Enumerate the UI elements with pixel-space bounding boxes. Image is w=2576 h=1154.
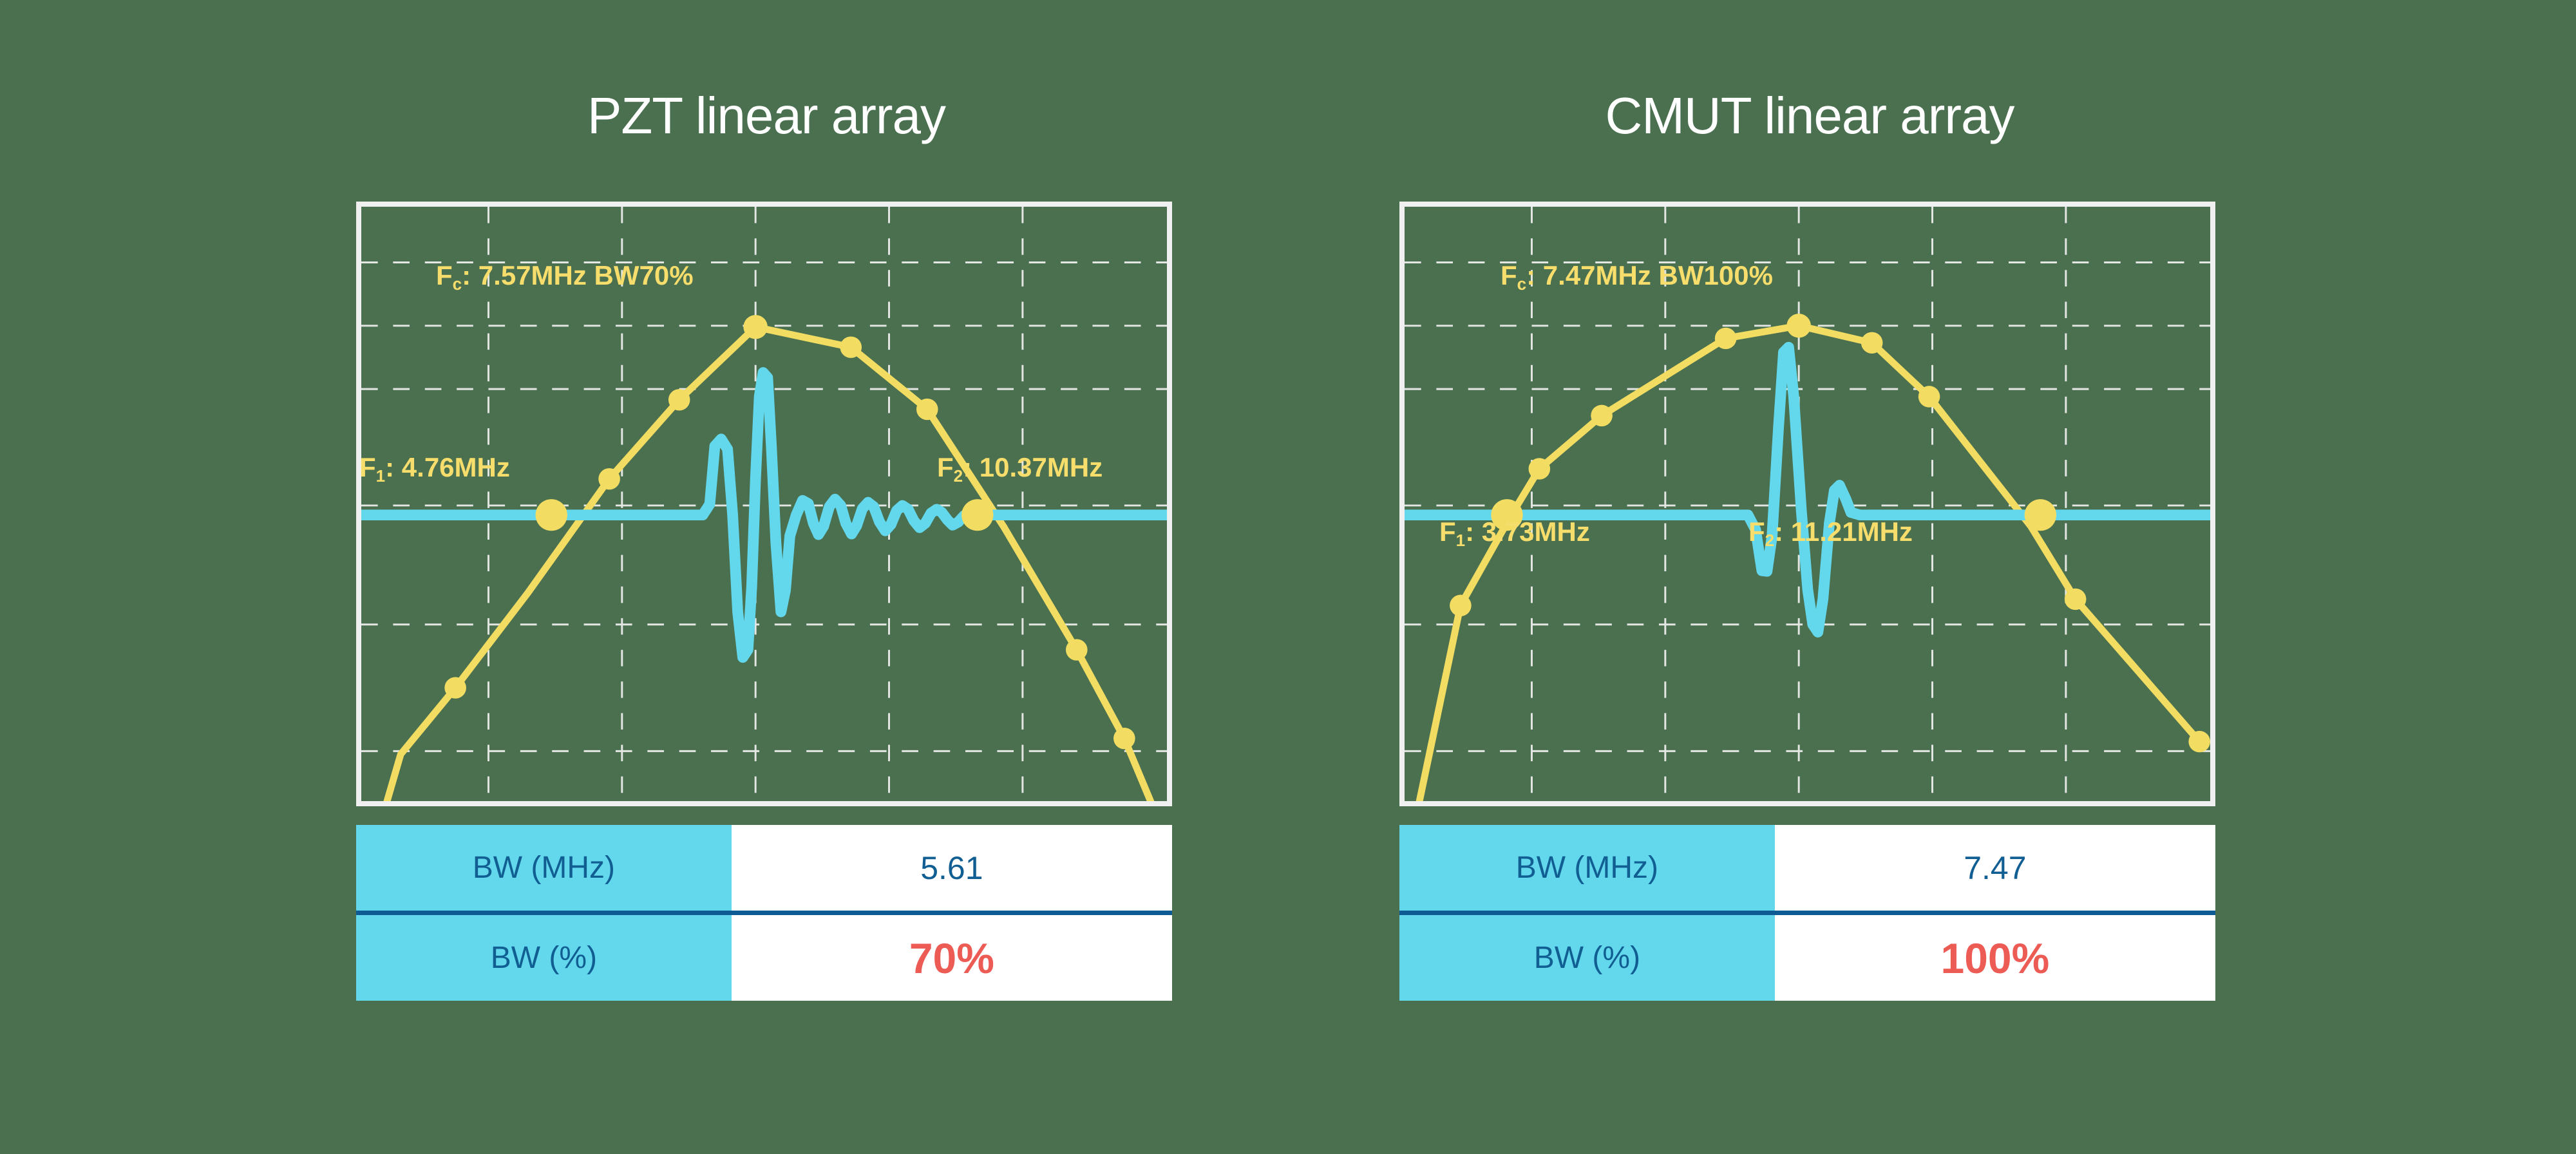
annotation-symbol: F [937, 452, 954, 482]
table-cell-label: BW (MHz) [356, 825, 732, 913]
annotation-subscript: 1 [376, 466, 385, 486]
annotation-center-frequency-cmut: Fc: 7.47MHz BW100% [1501, 262, 1773, 289]
annotation-subscript: c [453, 274, 462, 294]
annotation-lower-cutoff-cmut: F1: 3.73MHz [1439, 518, 1590, 545]
chart-pzt-svg [361, 207, 1167, 801]
annotation-subscript: 2 [954, 466, 963, 486]
annotation-text: : 11.21MHz [1774, 516, 1913, 547]
annotation-text: : 10.37MHz [963, 452, 1103, 482]
annotation-text: : 4.76MHz [385, 452, 510, 482]
annotation-upper-cutoff-pzt: F2: 10.37MHz [937, 454, 1103, 481]
table-cell-value: 7.47 [1775, 825, 2215, 913]
table-cell-label: BW (MHz) [1399, 825, 1775, 913]
impulse-response-waveform-pzt [361, 373, 1167, 657]
annotation-symbol: F [1439, 516, 1456, 547]
table-cell-value: 5.61 [732, 825, 1172, 913]
chart-pzt [356, 202, 1172, 806]
grid-lines-cmut [1405, 207, 2210, 801]
annotation-symbol: F [436, 260, 453, 290]
panel-cmut: CMUT linear array [1294, 0, 2325, 1154]
page-title-pzt: PZT linear array [251, 90, 1282, 142]
annotation-subscript: c [1517, 274, 1526, 294]
annotation-text: : 7.47MHz BW100% [1526, 260, 1773, 290]
annotation-symbol: F [359, 452, 376, 482]
page-title-cmut: CMUT linear array [1294, 90, 2325, 142]
table-row: BW (%) 100% [1399, 913, 2215, 1001]
annotation-subscript: 1 [1456, 531, 1465, 550]
panel-pzt: PZT linear array [251, 0, 1282, 1154]
annotation-text: : 3.73MHz [1465, 516, 1590, 547]
annotation-subscript: 2 [1765, 531, 1774, 550]
table-row: BW (MHz) 5.61 [356, 825, 1172, 913]
annotation-center-frequency-pzt: Fc: 7.57MHz BW70% [436, 262, 694, 289]
table-cell-label: BW (%) [356, 913, 732, 1001]
table-row: BW (MHz) 7.47 [1399, 825, 2215, 913]
annotation-text: : 7.57MHz BW70% [462, 260, 693, 290]
annotation-symbol: F [1501, 260, 1517, 290]
chart-cmut-svg [1405, 207, 2210, 801]
table-cell-value: 100% [1775, 913, 2215, 1001]
table-cell-value: 70% [732, 913, 1172, 1001]
grid-lines-pzt [361, 207, 1167, 801]
annotation-upper-cutoff-cmut: F2: 11.21MHz [1748, 518, 1913, 545]
bandwidth-table-pzt: BW (MHz) 5.61 BW (%) 70% [356, 825, 1172, 1001]
annotation-lower-cutoff-pzt: F1: 4.76MHz [359, 454, 510, 481]
annotation-symbol: F [1748, 516, 1765, 547]
bandwidth-table-cmut: BW (MHz) 7.47 BW (%) 100% [1399, 825, 2215, 1001]
table-cell-label: BW (%) [1399, 913, 1775, 1001]
table-row: BW (%) 70% [356, 913, 1172, 1001]
